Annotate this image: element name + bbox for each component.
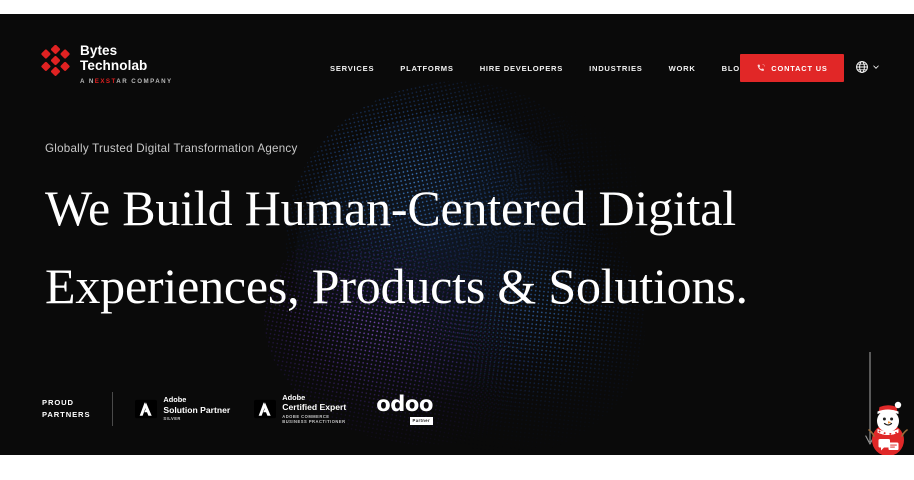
badge-text: Adobe Certified Expert ADOBE COMMERCE BU…: [282, 394, 346, 425]
browser-viewport: Bytes Technolab A NEXSTAR COMPANY SERVIC…: [0, 0, 914, 480]
hero-page: Bytes Technolab A NEXSTAR COMPANY SERVIC…: [0, 14, 914, 455]
nav-item-work[interactable]: WORK: [669, 64, 696, 73]
logo-text: Bytes Technolab A NEXSTAR COMPANY: [80, 44, 173, 85]
badge-line-1: Adobe: [163, 396, 230, 405]
tagline-part-2: AR COMPANY: [116, 78, 172, 85]
snowman-chat-icon: [869, 402, 907, 455]
contact-us-label: CONTACT US: [771, 64, 827, 73]
partners-divider: [112, 392, 113, 426]
badge-line-1: Adobe: [282, 394, 346, 403]
language-selector[interactable]: [855, 60, 880, 74]
badge-line-3: SILVER: [163, 416, 230, 421]
phone-ring-icon: [756, 63, 766, 73]
logo-tagline: A NEXSTAR COMPANY: [80, 79, 173, 85]
chat-widget-snowman[interactable]: [866, 396, 910, 455]
badge-line-2: Solution Partner: [163, 405, 230, 415]
adobe-a-icon: [135, 398, 157, 420]
hero-eyebrow: Globally Trusted Digital Transformation …: [45, 142, 875, 155]
badge-line-2: Certified Expert: [282, 402, 346, 412]
nav-item-platforms[interactable]: PLATFORMS: [400, 64, 453, 73]
globe-icon: [855, 60, 869, 74]
odoo-wordmark: odoo: [376, 394, 433, 415]
partners-label: PROUD PARTNERS: [42, 397, 112, 421]
main-nav: SERVICES PLATFORMS HIRE DEVELOPERS INDUS…: [330, 64, 747, 73]
nav-item-industries[interactable]: INDUSTRIES: [589, 64, 643, 73]
tagline-part-1: A N: [80, 78, 95, 85]
bytes-technolab-floral-mark: [40, 45, 71, 76]
partner-badge-adobe-solution-partner[interactable]: Adobe Solution Partner SILVER: [135, 396, 230, 421]
badge-text: Adobe Solution Partner SILVER: [163, 396, 230, 421]
adobe-a-icon: [254, 398, 276, 420]
partner-badge-odoo[interactable]: odoo Partner: [376, 394, 433, 425]
hero-content: Globally Trusted Digital Transformation …: [45, 142, 875, 325]
proud-partners: PROUD PARTNERS Adobe Solution Partner SI…: [42, 392, 433, 426]
badge-line-3: ADOBE COMMERCE BUSINESS PRACTITIONER: [282, 414, 346, 424]
chevron-down-icon: [872, 63, 880, 71]
nav-item-hire-developers[interactable]: HIRE DEVELOPERS: [480, 64, 563, 73]
odoo-sub-label: Partner: [410, 417, 433, 425]
partner-badge-adobe-certified-expert[interactable]: Adobe Certified Expert ADOBE COMMERCE BU…: [254, 394, 346, 425]
logo-name: Bytes Technolab: [80, 44, 173, 73]
logo[interactable]: Bytes Technolab A NEXSTAR COMPANY: [40, 44, 173, 85]
tagline-accent: EXST: [95, 78, 117, 85]
hero-headline: We Build Human-Centered Digital Experien…: [45, 169, 875, 325]
nav-item-services[interactable]: SERVICES: [330, 64, 374, 73]
contact-us-button[interactable]: CONTACT US: [740, 54, 844, 82]
site-header: Bytes Technolab A NEXSTAR COMPANY SERVIC…: [0, 14, 914, 90]
